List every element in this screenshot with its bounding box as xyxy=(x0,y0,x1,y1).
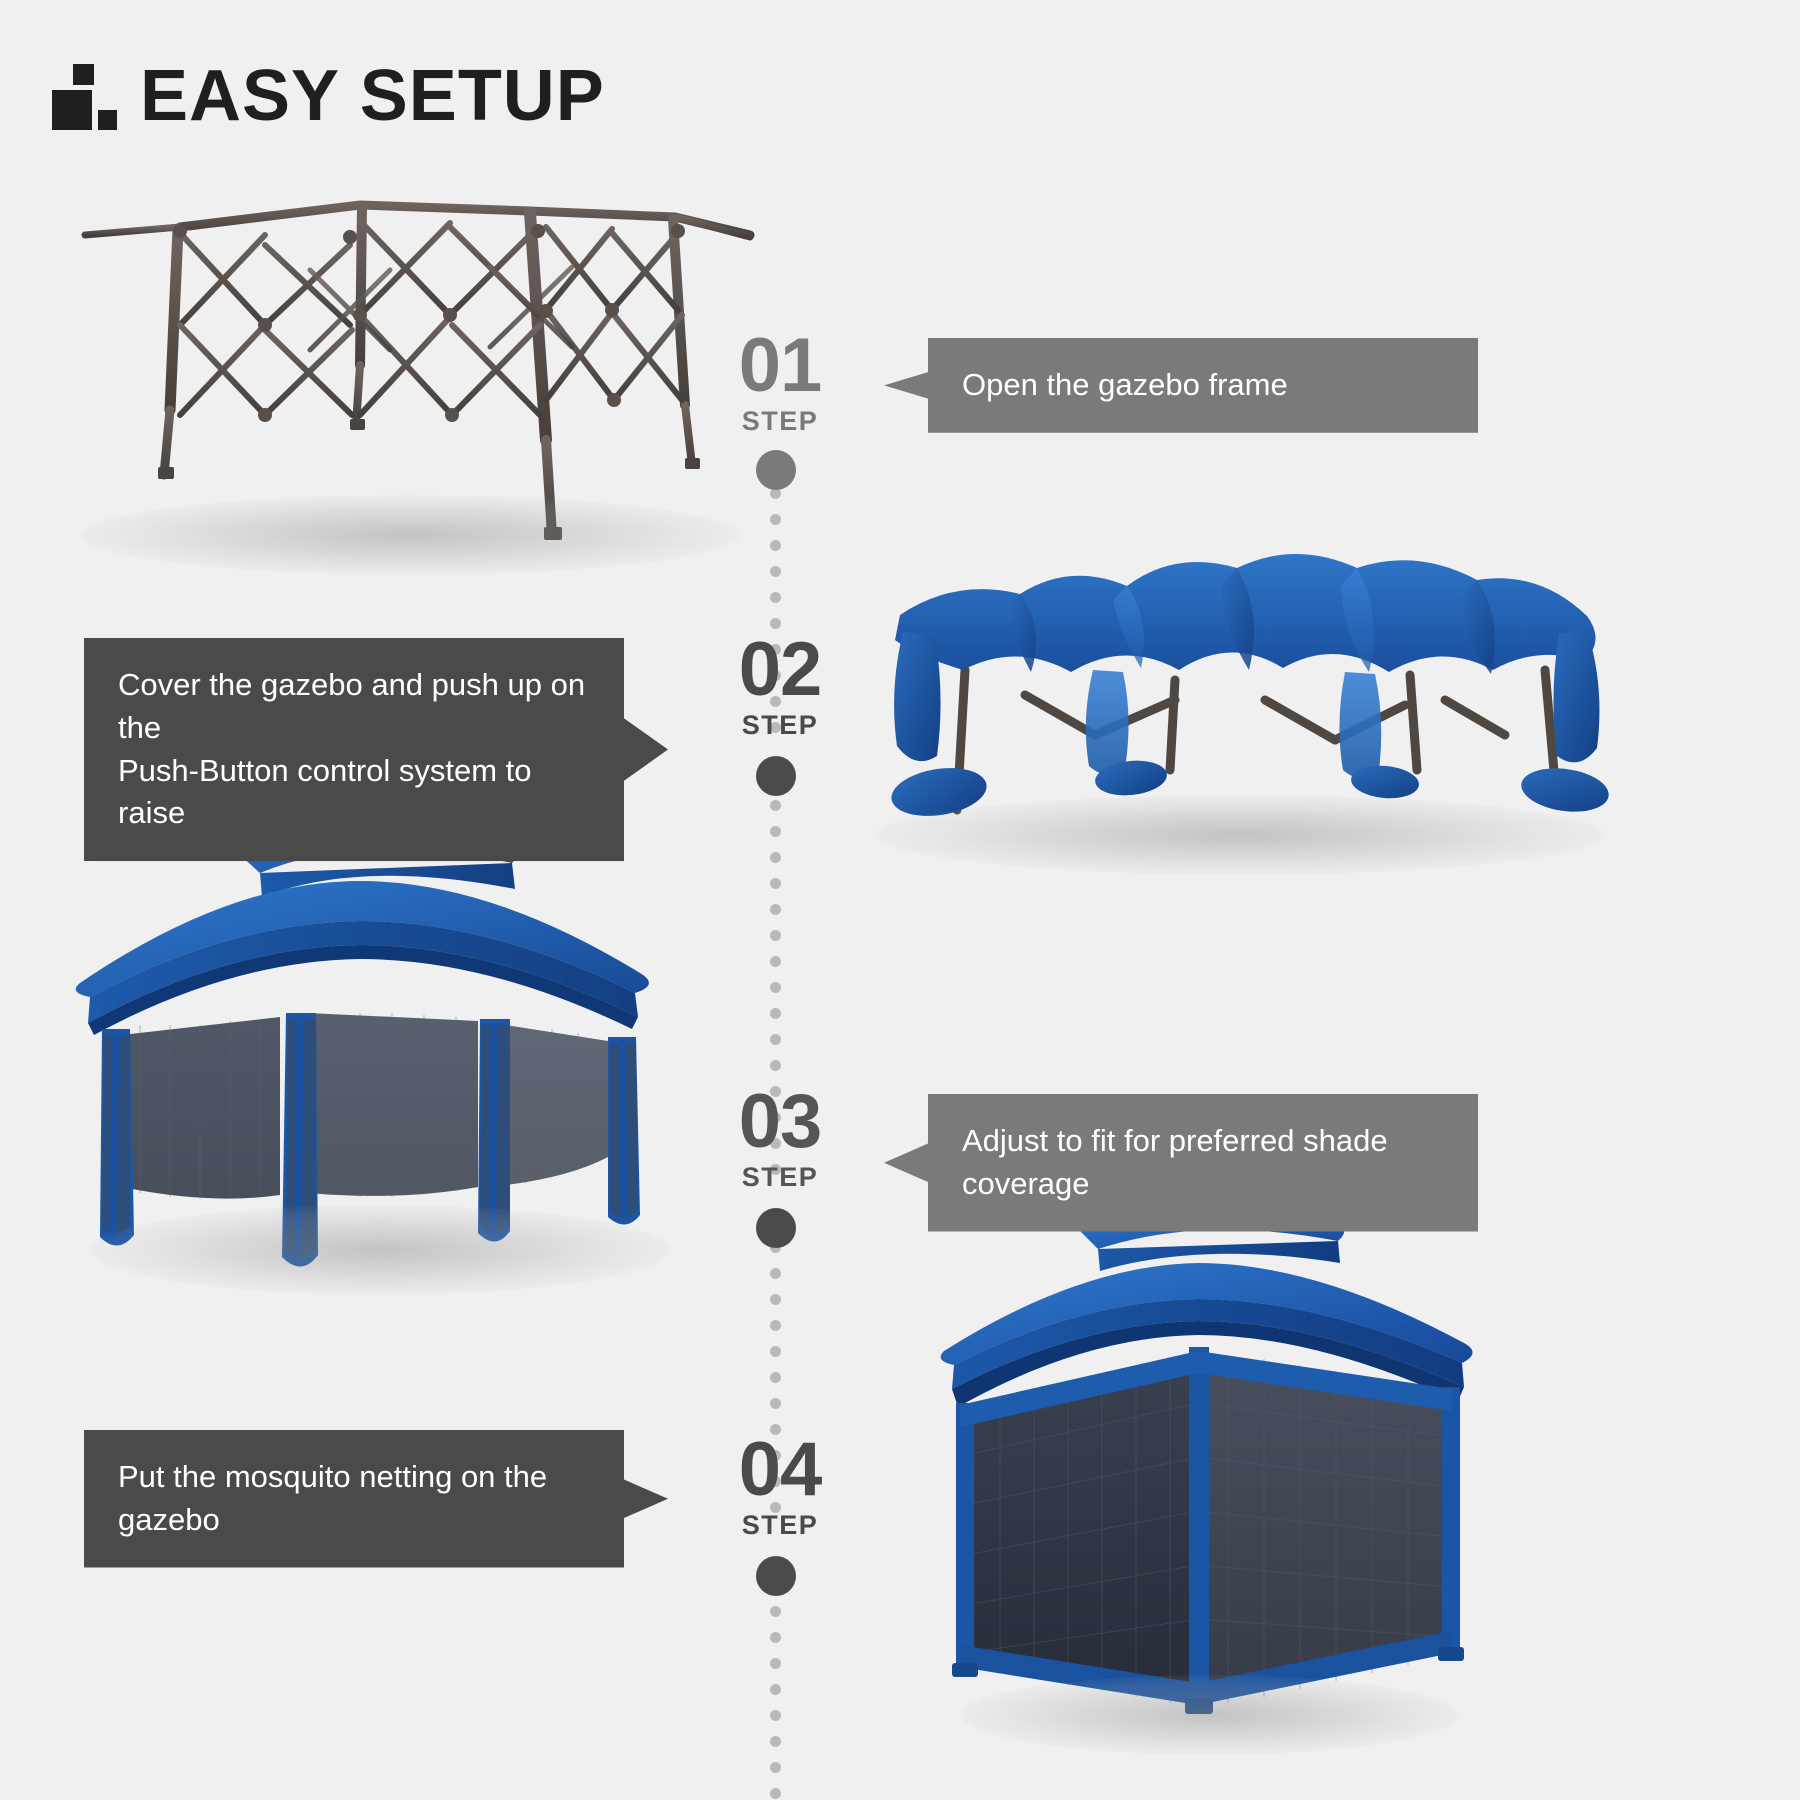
timeline-dot xyxy=(770,1736,781,1747)
timeline-dot xyxy=(770,1398,781,1409)
timeline-dot xyxy=(770,1008,781,1019)
timeline-step-marker-04 xyxy=(756,1556,796,1596)
step-number-value: 01 xyxy=(700,330,860,402)
timeline-dot xyxy=(770,1632,781,1643)
step-callout-line-2: Push-Button control system to raise xyxy=(118,753,532,831)
page-header: EASY SETUP xyxy=(52,58,605,130)
page-title: EASY SETUP xyxy=(140,62,605,130)
timeline-dot xyxy=(770,1788,781,1799)
timeline-dot xyxy=(770,982,781,993)
step-number-value: 02 xyxy=(700,634,860,706)
step-callout-02[interactable]: Cover the gazebo and push up on the Push… xyxy=(84,638,668,861)
timeline-dot xyxy=(770,826,781,837)
timeline-dot xyxy=(770,1684,781,1695)
gazebo-canopy-draped-photo xyxy=(845,520,1635,890)
timeline-dot xyxy=(770,1606,781,1617)
three-squares-logo-icon xyxy=(52,58,114,130)
timeline-dot xyxy=(770,592,781,603)
timeline-dot xyxy=(770,1034,781,1045)
step-callout-text: Adjust to fit for preferred shade covera… xyxy=(962,1120,1444,1206)
timeline-dot xyxy=(770,1060,781,1071)
step-callout-text: Put the mosquito netting on the gazebo xyxy=(118,1456,590,1542)
gazebo-netting-closed-photo xyxy=(930,1175,1490,1755)
gazebo-frame-skeleton-photo xyxy=(60,175,760,575)
step-callout-01[interactable]: Open the gazebo frame xyxy=(884,338,1478,433)
timeline-dot xyxy=(770,514,781,525)
timeline-step-marker-02 xyxy=(756,756,796,796)
infographic-canvas: EASY SETUP xyxy=(0,0,1800,1800)
step-number-03: 03 STEP xyxy=(700,1086,860,1193)
timeline-step-marker-03 xyxy=(756,1208,796,1248)
step-label: STEP xyxy=(700,1510,860,1541)
timeline-dot xyxy=(770,540,781,551)
timeline-dot xyxy=(770,800,781,811)
timeline-dot xyxy=(770,930,781,941)
timeline-step-marker-01 xyxy=(756,450,796,490)
timeline-dot xyxy=(770,1762,781,1773)
timeline-dot xyxy=(770,1268,781,1279)
timeline-dot xyxy=(770,1658,781,1669)
timeline-dot xyxy=(770,956,781,967)
step-callout-03[interactable]: Adjust to fit for preferred shade covera… xyxy=(884,1094,1478,1232)
step-label: STEP xyxy=(700,1162,860,1193)
step-number-01: 01 STEP xyxy=(700,330,860,437)
step-number-value: 03 xyxy=(700,1086,860,1158)
step-callout-04[interactable]: Put the mosquito netting on the gazebo xyxy=(84,1430,668,1568)
timeline-dot xyxy=(770,904,781,915)
timeline-dot xyxy=(770,1320,781,1331)
timeline-dot xyxy=(770,852,781,863)
step-callout-text: Open the gazebo frame xyxy=(962,364,1288,407)
step-number-02: 02 STEP xyxy=(700,634,860,741)
step-label: STEP xyxy=(700,710,860,741)
timeline-dot xyxy=(770,566,781,577)
step-callout-text: Cover the gazebo and push up on the Push… xyxy=(118,664,590,835)
timeline-dot xyxy=(770,1294,781,1305)
step-callout-line-1: Cover the gazebo and push up on the xyxy=(118,667,585,745)
step-label: STEP xyxy=(700,406,860,437)
step-number-04: 04 STEP xyxy=(700,1434,860,1541)
gazebo-with-netting-open-photo xyxy=(60,785,690,1305)
timeline-dot xyxy=(770,878,781,889)
step-number-value: 04 xyxy=(700,1434,860,1506)
timeline-dot xyxy=(770,1710,781,1721)
timeline-dot xyxy=(770,1346,781,1357)
timeline-dot xyxy=(770,1372,781,1383)
